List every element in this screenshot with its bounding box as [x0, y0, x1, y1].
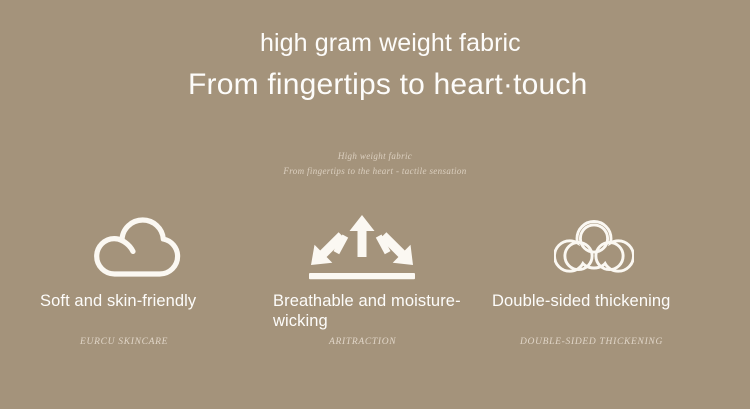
cloud-icon: [34, 205, 258, 291]
feature-list: Soft and skin-friendly EURCU SKINCARE: [0, 205, 750, 347]
feature-item-breathable-moisture-wicking: Breathable and moisture-wicking ARITRACT…: [263, 205, 487, 347]
triple-circle-icon: [492, 205, 716, 291]
fabric-feature-banner: high gram weight fabric From fingertips …: [0, 0, 750, 409]
headline-secondary: From fingertips to heart·touch: [0, 59, 750, 103]
feature-subtitle: DOUBLE-SIDED THICKENING: [492, 337, 744, 347]
feature-item-double-sided-thickening: Double-sided thickening DOUBLE-SIDED THI…: [492, 205, 716, 347]
headline-primary: high gram weight fabric: [0, 28, 730, 59]
feature-title: Double-sided thickening: [492, 291, 716, 331]
caption-line-2: From fingertips to the heart - tactile s…: [0, 164, 750, 179]
feature-title: Soft and skin-friendly: [34, 291, 264, 331]
feature-title: Breathable and moisture-wicking: [263, 291, 497, 331]
caption-line-1: High weight fabric: [0, 149, 750, 164]
feature-item-soft-skin-friendly: Soft and skin-friendly EURCU SKINCARE: [34, 205, 258, 347]
headline-block: high gram weight fabric From fingertips …: [0, 28, 750, 103]
caption-block: High weight fabric From fingertips to th…: [0, 149, 750, 178]
breathability-arrows-icon: [263, 205, 487, 291]
